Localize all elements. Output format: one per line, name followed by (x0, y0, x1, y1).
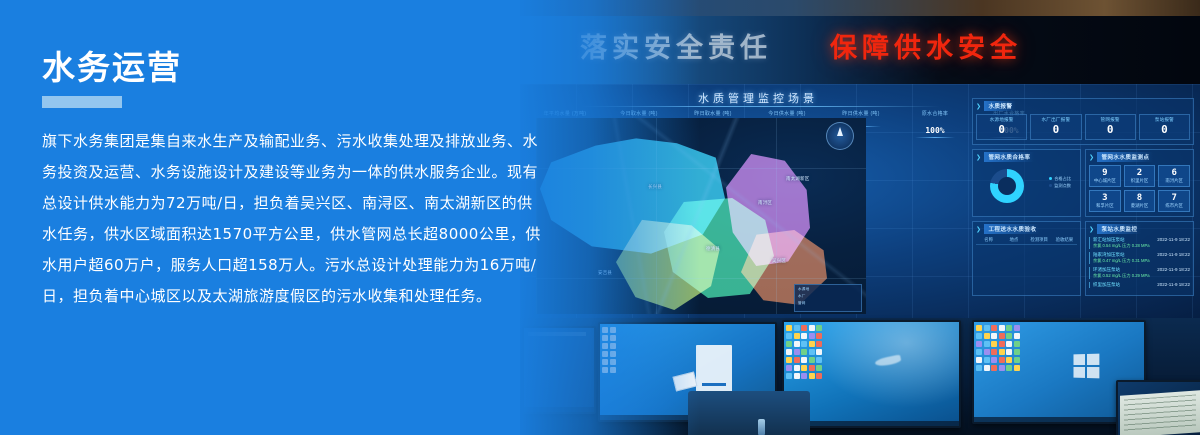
map-label: 德清县 (706, 246, 720, 252)
panel-header: ❯ 水质报警 (976, 101, 1190, 111)
chevron-right-icon: ❯ (1089, 154, 1094, 161)
video-wall-dashboard: 水质管理监控场景 年平均水量 (万吨) 今日取水量 (吨) 昨日取水量 (吨) (520, 84, 1200, 322)
pump-log-list: 新汇站加压泵站 2022-11-9 18:22 余氯 0.54 mg/L 压力 … (1089, 237, 1190, 288)
compass-icon (826, 122, 854, 150)
desktop-icon-grid (976, 325, 1020, 371)
water-bottle (758, 419, 765, 435)
dashboard-title: 水质管理监控场景 (628, 90, 888, 106)
acceptance-table-header: 名称 地点 检测项目 验收结果 (976, 237, 1077, 245)
monitoring-point-cell: 8 菱湖片区 (1124, 190, 1156, 212)
monitoring-point-cell: 7 练市片区 (1158, 190, 1190, 212)
monitoring-point-cell: 3 和孚片区 (1089, 190, 1121, 212)
panel-row-middle: ❯ 管网水质合格率 合格占比 监测点数 (972, 149, 1194, 217)
chevron-right-icon: ❯ (976, 226, 981, 233)
map-label: 长兴县 (648, 184, 662, 190)
alarm-card-row: 水源地报警 0 水厂出厂报警 0 管网报警 0 泵站报警 (976, 114, 1190, 140)
pump-log-row: 环渚加压泵站 2022-11-9 18:22 余氯 0.52 mg/L 压力 0… (1089, 267, 1190, 279)
panel-header: ❯ 管网水质合格率 (976, 152, 1077, 162)
monitoring-point-grid: 9 中心城片区 2 织里片区 6 南浔片区 (1089, 165, 1190, 212)
donut-chart: 合格占比 监测点数 (976, 165, 1077, 209)
donut-ring (990, 169, 1024, 203)
panel-pipe-quality-rate: ❯ 管网水质合格率 合格占比 监测点数 (972, 149, 1081, 217)
map-label: 吴兴区 (772, 258, 786, 264)
operator-desk-row (520, 318, 1200, 435)
monitoring-point-cell: 2 织里片区 (1124, 165, 1156, 187)
chevron-right-icon: ❯ (976, 154, 981, 161)
paper-sheet (1120, 390, 1200, 435)
monitor-left-dark (522, 326, 596, 414)
panel-water-quality-alarm: ❯ 水质报警 水源地报警 0 水厂出厂报警 0 管网报警 (972, 98, 1194, 145)
document-window (696, 345, 732, 393)
desktop-icon-grid (602, 327, 616, 373)
desktop-icon-grid (786, 325, 822, 379)
description-text: 旗下水务集团是集自来水生产及输配业务、污水收集处理及排放业务、水务投资及运营、水… (42, 126, 542, 312)
panel-header: ❯ 泵站水质监控 (1089, 224, 1190, 234)
slogan-right: 保障供水安全 (830, 26, 1022, 65)
pump-log-row: 织里加压泵站 2022-11-9 18:22 (1089, 282, 1190, 288)
kpi-item: 原水合格率 100% (904, 110, 966, 138)
title-underline-bar (42, 96, 122, 108)
pump-log-row: 新汇站加压泵站 2022-11-9 18:22 余氯 0.54 mg/L 压力 … (1089, 237, 1190, 249)
pump-log-row: 陆家湾加压泵站 2022-11-9 18:22 余氯 0.47 mg/L 压力 … (1089, 252, 1190, 264)
chevron-right-icon: ❯ (976, 103, 981, 110)
legend-dot (1049, 184, 1052, 187)
panel-row-bottom: ❯ 工程送水水质验收 名称 地点 检测项目 验收结果 ❯ (972, 221, 1194, 296)
panel-pipe-quality-points: ❯ 管网水水质监测点 9 中心城片区 2 织里片区 (1085, 149, 1194, 217)
map-label: 安吉县 (598, 270, 612, 276)
panel-pump-station-monitoring: ❯ 泵站水质监控 新汇站加压泵站 2022-11-9 18:22 余氯 0.54 (1085, 221, 1194, 296)
alarm-card: 水厂出厂报警 0 (1030, 114, 1081, 140)
ceiling-strip (520, 0, 1200, 16)
water-operations-banner: 落实安全责任 保障供水安全 水质管理监控场景 年平均水量 (万吨) 今日取水量 … (0, 0, 1200, 435)
alarm-card: 水源地报警 0 (976, 114, 1027, 140)
monitoring-point-cell: 9 中心城片区 (1089, 165, 1121, 187)
map-label: 南太湖新区 (786, 176, 810, 182)
map-label: 南浔区 (758, 200, 772, 206)
sheet-lines (1124, 394, 1196, 433)
panel-header: ❯ 工程送水水质验收 (976, 224, 1077, 234)
windows-logo-icon (1073, 354, 1099, 379)
panel-project-water-acceptance: ❯ 工程送水水质验收 名称 地点 检测项目 验收结果 (972, 221, 1081, 296)
dashboard-title-divider (580, 106, 940, 107)
regional-map: 长兴县 安吉县 德清县 南浔区 吴兴区 南太湖新区 水源地 水厂 管网 (536, 118, 866, 314)
kpi-underline (915, 137, 955, 138)
text-content: 水务运营 旗下水务集团是集自来水生产及输配业务、污水收集处理及排放业务、水务投资… (0, 0, 560, 312)
donut-legend: 合格占比 监测点数 (1049, 175, 1071, 189)
control-room-photo: 落实安全责任 保障供水安全 水质管理监控场景 年平均水量 (万吨) 今日取水量 … (520, 0, 1200, 435)
alarm-card: 泵站报警 0 (1139, 114, 1190, 140)
legend-dot (1049, 177, 1052, 180)
page-title: 水务运营 (42, 48, 560, 88)
dashboard-panel-column: ❯ 水质报警 水源地报警 0 水厂出厂报警 0 管网报警 (972, 98, 1194, 296)
slogan-left: 落实安全责任 (580, 26, 772, 65)
description-paragraph: 旗下水务集团是集自来水生产及输配业务、污水收集处理及排放业务、水务投资及运营、水… (42, 126, 542, 312)
chevron-right-icon: ❯ (1089, 226, 1094, 233)
alarm-card: 管网报警 0 (1085, 114, 1136, 140)
monitoring-point-cell: 6 南浔片区 (1158, 165, 1190, 187)
envelope-icon (672, 371, 697, 391)
taskbar (784, 421, 959, 426)
panel-header: ❯ 管网水水质监测点 (1089, 152, 1190, 162)
laptop (688, 391, 810, 435)
taskbar (524, 407, 594, 412)
map-legend: 水源地 水厂 管网 (794, 284, 862, 312)
